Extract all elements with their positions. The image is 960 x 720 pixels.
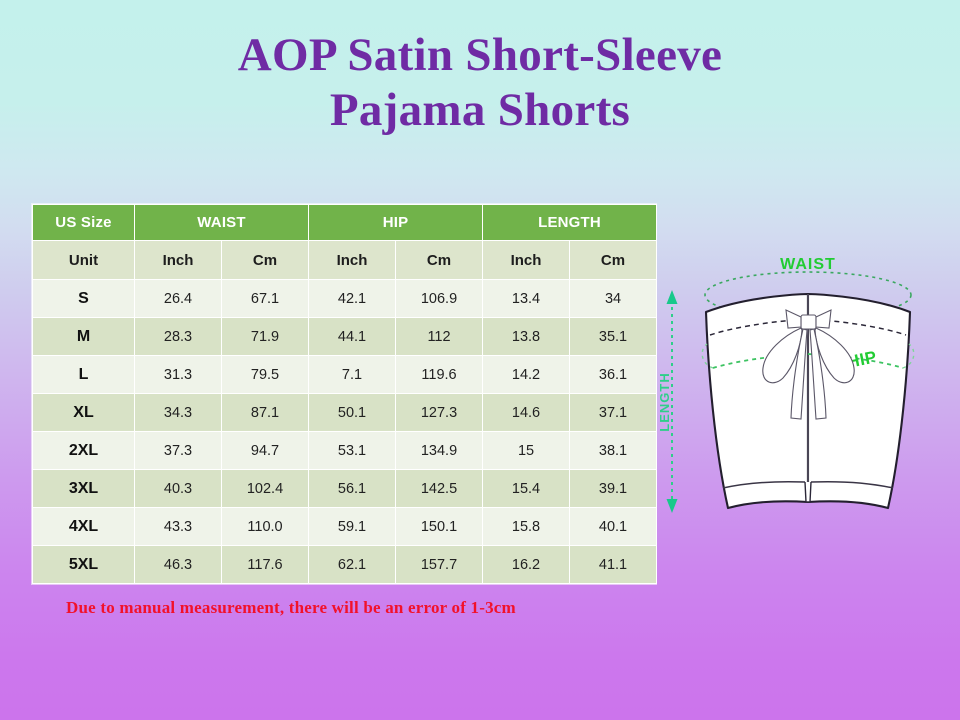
cell-size: 5XL — [33, 546, 135, 584]
unit-header-unit: Unit — [33, 241, 135, 280]
cell-hip-in: 53.1 — [309, 432, 396, 470]
cell-len-in: 16.2 — [483, 546, 570, 584]
cell-hip-in: 62.1 — [309, 546, 396, 584]
cell-waist-cm: 87.1 — [222, 394, 309, 432]
cell-hip-in: 56.1 — [309, 470, 396, 508]
table-row: 4XL 43.3 110.0 59.1 150.1 15.8 40.1 — [33, 508, 657, 546]
cell-hip-in: 42.1 — [309, 280, 396, 318]
table-row: S 26.4 67.1 42.1 106.9 13.4 34 — [33, 280, 657, 318]
table-row: 3XL 40.3 102.4 56.1 142.5 15.4 39.1 — [33, 470, 657, 508]
cell-hip-cm: 106.9 — [396, 280, 483, 318]
size-chart-page: AOP Satin Short-Sleeve Pajama Shorts US … — [0, 0, 960, 720]
cell-waist-cm: 94.7 — [222, 432, 309, 470]
measurement-disclaimer: Due to manual measurement, there will be… — [66, 598, 516, 618]
cell-hip-cm: 119.6 — [396, 356, 483, 394]
waist-label: WAIST — [780, 256, 836, 273]
group-header-us-size: US Size — [33, 205, 135, 241]
page-title: AOP Satin Short-Sleeve Pajama Shorts — [0, 28, 960, 138]
cell-len-in: 15.4 — [483, 470, 570, 508]
cell-len-in: 14.2 — [483, 356, 570, 394]
cell-hip-cm: 157.7 — [396, 546, 483, 584]
group-header-length: LENGTH — [483, 205, 657, 241]
cell-len-in: 14.6 — [483, 394, 570, 432]
cell-size: S — [33, 280, 135, 318]
unit-header-len-in: Inch — [483, 241, 570, 280]
table-row: M 28.3 71.9 44.1 112 13.8 35.1 — [33, 318, 657, 356]
cell-waist-in: 43.3 — [135, 508, 222, 546]
cell-size: 4XL — [33, 508, 135, 546]
page-title-line-2: Pajama Shorts — [0, 83, 960, 138]
length-label: LENGTH — [657, 372, 672, 431]
cell-waist-cm: 102.4 — [222, 470, 309, 508]
unit-header-hip-in: Inch — [309, 241, 396, 280]
cell-len-cm: 36.1 — [570, 356, 657, 394]
cell-len-cm: 41.1 — [570, 546, 657, 584]
cell-waist-in: 40.3 — [135, 470, 222, 508]
cell-len-in: 15.8 — [483, 508, 570, 546]
cell-hip-cm: 142.5 — [396, 470, 483, 508]
cell-waist-in: 26.4 — [135, 280, 222, 318]
cell-waist-cm: 79.5 — [222, 356, 309, 394]
cell-size: XL — [33, 394, 135, 432]
cell-waist-cm: 110.0 — [222, 508, 309, 546]
cell-len-in: 13.8 — [483, 318, 570, 356]
cell-waist-cm: 67.1 — [222, 280, 309, 318]
cell-size: L — [33, 356, 135, 394]
size-table-container: US Size WAIST HIP LENGTH Unit Inch Cm In… — [32, 204, 656, 584]
cell-len-cm: 37.1 — [570, 394, 657, 432]
cell-hip-in: 7.1 — [309, 356, 396, 394]
unit-header-len-cm: Cm — [570, 241, 657, 280]
cell-hip-cm: 112 — [396, 318, 483, 356]
cell-waist-cm: 71.9 — [222, 318, 309, 356]
cell-len-in: 15 — [483, 432, 570, 470]
cell-waist-in: 31.3 — [135, 356, 222, 394]
group-header-waist: WAIST — [135, 205, 309, 241]
cell-waist-in: 34.3 — [135, 394, 222, 432]
size-table-head: US Size WAIST HIP LENGTH Unit Inch Cm In… — [33, 205, 657, 280]
cell-waist-in: 28.3 — [135, 318, 222, 356]
table-row: XL 34.3 87.1 50.1 127.3 14.6 37.1 — [33, 394, 657, 432]
cell-len-cm: 34 — [570, 280, 657, 318]
cell-size: 2XL — [33, 432, 135, 470]
cell-len-cm: 39.1 — [570, 470, 657, 508]
cell-size: 3XL — [33, 470, 135, 508]
page-title-line-1: AOP Satin Short-Sleeve — [0, 28, 960, 83]
table-row: 5XL 46.3 117.6 62.1 157.7 16.2 41.1 — [33, 546, 657, 584]
cell-hip-cm: 127.3 — [396, 394, 483, 432]
cell-len-cm: 35.1 — [570, 318, 657, 356]
group-header-hip: HIP — [309, 205, 483, 241]
table-row: 2XL 37.3 94.7 53.1 134.9 15 38.1 — [33, 432, 657, 470]
cell-hip-in: 50.1 — [309, 394, 396, 432]
group-header-row: US Size WAIST HIP LENGTH — [33, 205, 657, 241]
unit-header-hip-cm: Cm — [396, 241, 483, 280]
table-row: L 31.3 79.5 7.1 119.6 14.2 36.1 — [33, 356, 657, 394]
unit-header-waist-cm: Cm — [222, 241, 309, 280]
unit-header-waist-in: Inch — [135, 241, 222, 280]
unit-header-row: Unit Inch Cm Inch Cm Inch Cm — [33, 241, 657, 280]
shorts-diagram: LENGTH WAIST — [655, 250, 960, 550]
cell-waist-in: 46.3 — [135, 546, 222, 584]
cell-hip-cm: 134.9 — [396, 432, 483, 470]
size-table: US Size WAIST HIP LENGTH Unit Inch Cm In… — [32, 204, 657, 584]
cell-len-cm: 40.1 — [570, 508, 657, 546]
cell-len-in: 13.4 — [483, 280, 570, 318]
cell-size: M — [33, 318, 135, 356]
size-table-body: S 26.4 67.1 42.1 106.9 13.4 34 M 28.3 71… — [33, 280, 657, 584]
cell-len-cm: 38.1 — [570, 432, 657, 470]
cell-waist-in: 37.3 — [135, 432, 222, 470]
cell-waist-cm: 117.6 — [222, 546, 309, 584]
cell-hip-in: 59.1 — [309, 508, 396, 546]
cell-hip-cm: 150.1 — [396, 508, 483, 546]
cell-hip-in: 44.1 — [309, 318, 396, 356]
